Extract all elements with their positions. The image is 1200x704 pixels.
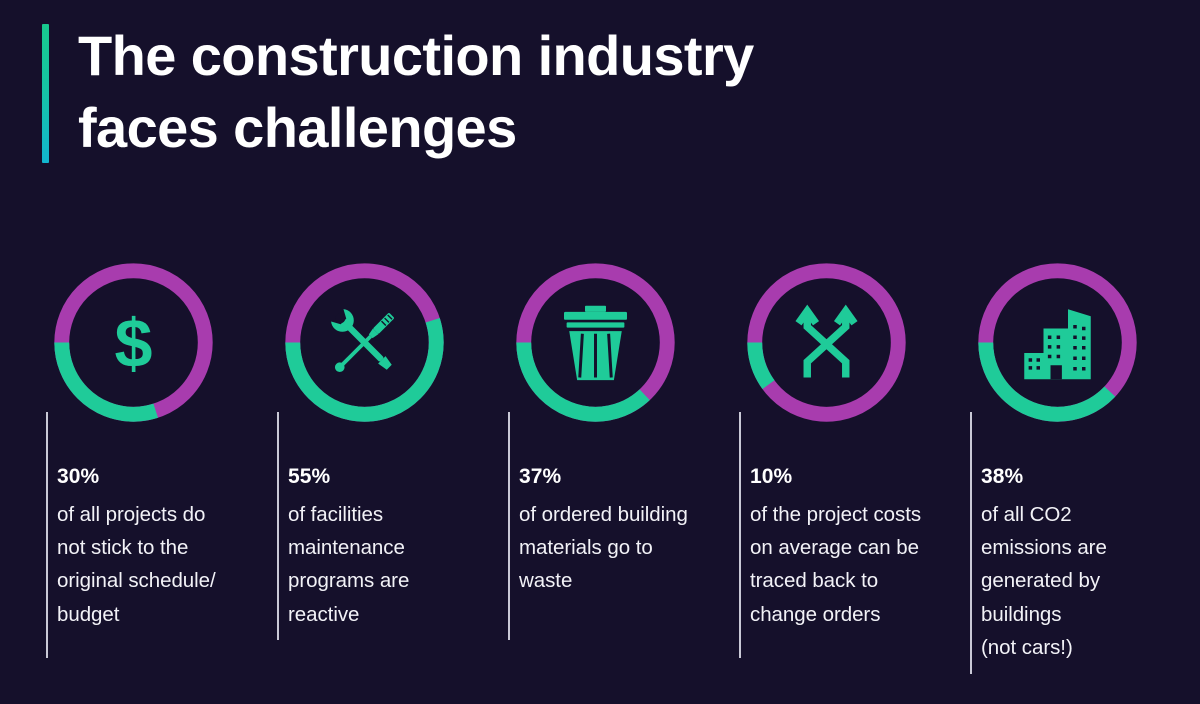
stat-card-2: 55% of facilities maintenance programs a…: [231, 255, 462, 666]
caption-rule: [970, 412, 972, 674]
stat-percent: 37%: [519, 466, 693, 487]
infographic-page: The construction industry faces challeng…: [0, 0, 1200, 704]
header: The construction industry faces challeng…: [42, 20, 754, 163]
donut-chart-2: [277, 255, 452, 430]
stat-description: of the project costs on average can be t…: [750, 498, 924, 631]
stat-description: of all projects do not stick to the orig…: [57, 498, 231, 631]
donut-chart-1: $: [46, 255, 221, 430]
stat-percent: 38%: [981, 466, 1155, 487]
dollar-sign-icon: $: [115, 306, 153, 382]
crossing-arrows-icon: [799, 311, 855, 378]
donut-chart-4: [739, 255, 914, 430]
stat-card-4: 10% of the project costs on average can …: [693, 255, 924, 666]
stat-description: of all CO2 emissions are generated by bu…: [981, 498, 1155, 664]
stat-percent: 10%: [750, 466, 924, 487]
stat-card-5: 38% of all CO2 emissions are generated b…: [924, 255, 1155, 666]
page-title: The construction industry faces challeng…: [78, 20, 754, 163]
accent-bar: [42, 24, 49, 163]
caption-rule: [739, 412, 741, 658]
stat-caption-4: 10% of the project costs on average can …: [739, 466, 924, 666]
stat-caption-2: 55% of facilities maintenance programs a…: [277, 466, 462, 666]
stat-card-3: 37% of ordered building materials go to …: [462, 255, 693, 666]
caption-rule: [277, 412, 279, 640]
stat-caption-5: 38% of all CO2 emissions are generated b…: [970, 466, 1155, 666]
caption-rule: [508, 412, 510, 640]
stat-percent: 55%: [288, 466, 462, 487]
svg-text:$: $: [115, 306, 153, 382]
donut-chart-3: [508, 255, 683, 430]
donut-chart-5: [970, 255, 1145, 430]
stat-description: of ordered building materials go to wast…: [519, 498, 693, 598]
stat-percent: 30%: [57, 466, 231, 487]
stat-card-1: $ 30% of all projects do not stick to th…: [0, 255, 231, 666]
stat-caption-3: 37% of ordered building materials go to …: [508, 466, 693, 666]
caption-rule: [46, 412, 48, 658]
tools-wrench-screwdriver-icon: [329, 307, 397, 375]
stats-row: $ 30% of all projects do not stick to th…: [0, 255, 1200, 666]
trash-can-icon: [564, 306, 627, 380]
stat-caption-1: 30% of all projects do not stick to the …: [46, 466, 231, 666]
city-buildings-icon: [1024, 309, 1091, 379]
stat-description: of facilities maintenance programs are r…: [288, 498, 462, 631]
